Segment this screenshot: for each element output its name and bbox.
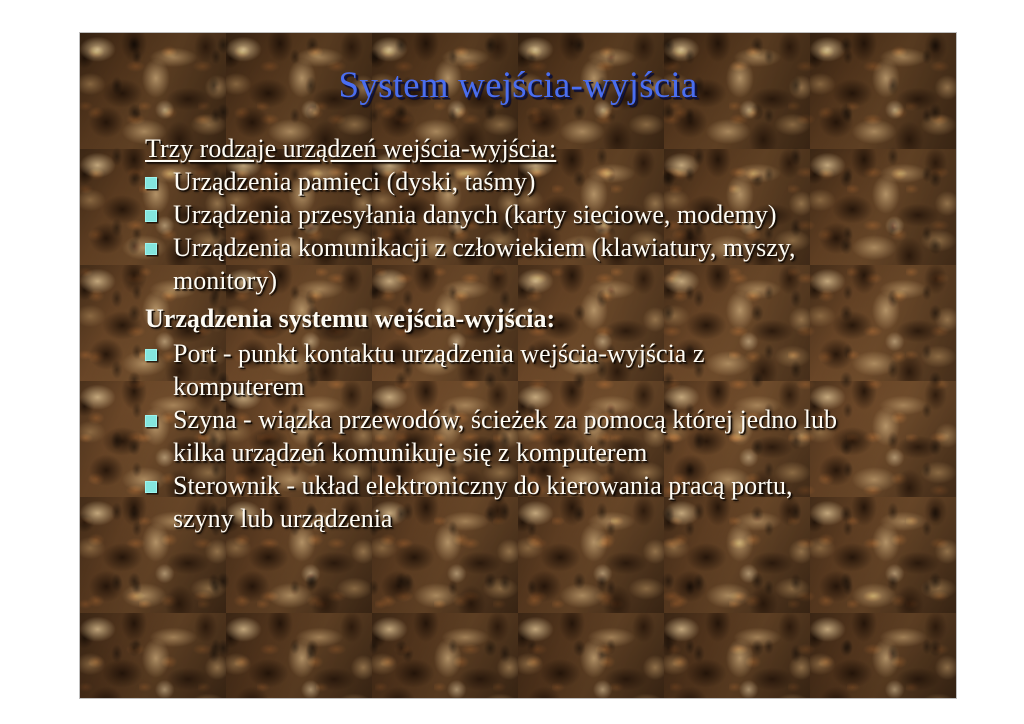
presentation-slide: System wejścia-wyjścia Trzy rodzaje urzą… — [80, 33, 956, 698]
square-bullet-icon — [145, 349, 157, 361]
bullet-item-text: Sterownik - układ elektroniczny do kiero… — [173, 471, 792, 500]
square-bullet-icon — [145, 481, 157, 493]
bullet-item: Urządzenia pamięci (dyski, taśmy) — [143, 166, 943, 197]
body-heading-bold: Urządzenia systemu wejścia-wyjścia: — [143, 303, 943, 334]
bullet-item-continuation-text: komputerem — [173, 372, 304, 401]
bullet-item: Port - punkt kontaktu urządzenia wejścia… — [143, 338, 943, 369]
slide-body: Trzy rodzaje urządzeń wejścia-wyjścia: U… — [143, 133, 943, 536]
bullet-item-text: Port - punkt kontaktu urządzenia wejścia… — [173, 339, 704, 368]
bullet-item-continuation-text: kilka urządzeń komunikuje się z komputer… — [173, 438, 647, 467]
bullet-item: Urządzenia przesyłania danych (karty sie… — [143, 199, 943, 230]
bullet-item-text: Urządzenia przesyłania danych (karty sie… — [173, 200, 777, 229]
bullet-item-continuation: kilka urządzeń komunikuje się z komputer… — [143, 437, 943, 468]
bullet-item-continuation-text: monitory) — [173, 266, 277, 295]
square-bullet-icon — [145, 243, 157, 255]
bullet-item-text: Urządzenia komunikacji z człowiekiem (kl… — [173, 233, 796, 262]
bullet-item-continuation: monitory) — [143, 265, 943, 296]
bullet-item-text: Urządzenia pamięci (dyski, taśmy) — [173, 167, 535, 196]
bullet-item-continuation: szyny lub urządzenia — [143, 503, 943, 534]
bullet-item: Szyna - wiązka przewodów, ścieżek za pom… — [143, 404, 943, 435]
slide-title: System wejścia-wyjścia — [80, 67, 956, 106]
bullet-item: Urządzenia komunikacji z człowiekiem (kl… — [143, 232, 943, 263]
square-bullet-icon — [145, 415, 157, 427]
bullet-item-text: Szyna - wiązka przewodów, ścieżek za pom… — [173, 405, 837, 434]
square-bullet-icon — [145, 177, 157, 189]
body-heading-underlined-text: Trzy rodzaje urządzeń wejścia-wyjścia: — [145, 134, 556, 163]
square-bullet-icon — [145, 210, 157, 222]
bullet-item-continuation: komputerem — [143, 371, 943, 402]
bullet-item-continuation-text: szyny lub urządzenia — [173, 504, 392, 533]
body-heading-bold-text: Urządzenia systemu wejścia-wyjścia: — [145, 304, 555, 333]
slide-content: System wejścia-wyjścia Trzy rodzaje urzą… — [80, 33, 956, 698]
bullet-item: Sterownik - układ elektroniczny do kiero… — [143, 470, 943, 501]
body-heading-underlined: Trzy rodzaje urządzeń wejścia-wyjścia: — [143, 133, 943, 164]
